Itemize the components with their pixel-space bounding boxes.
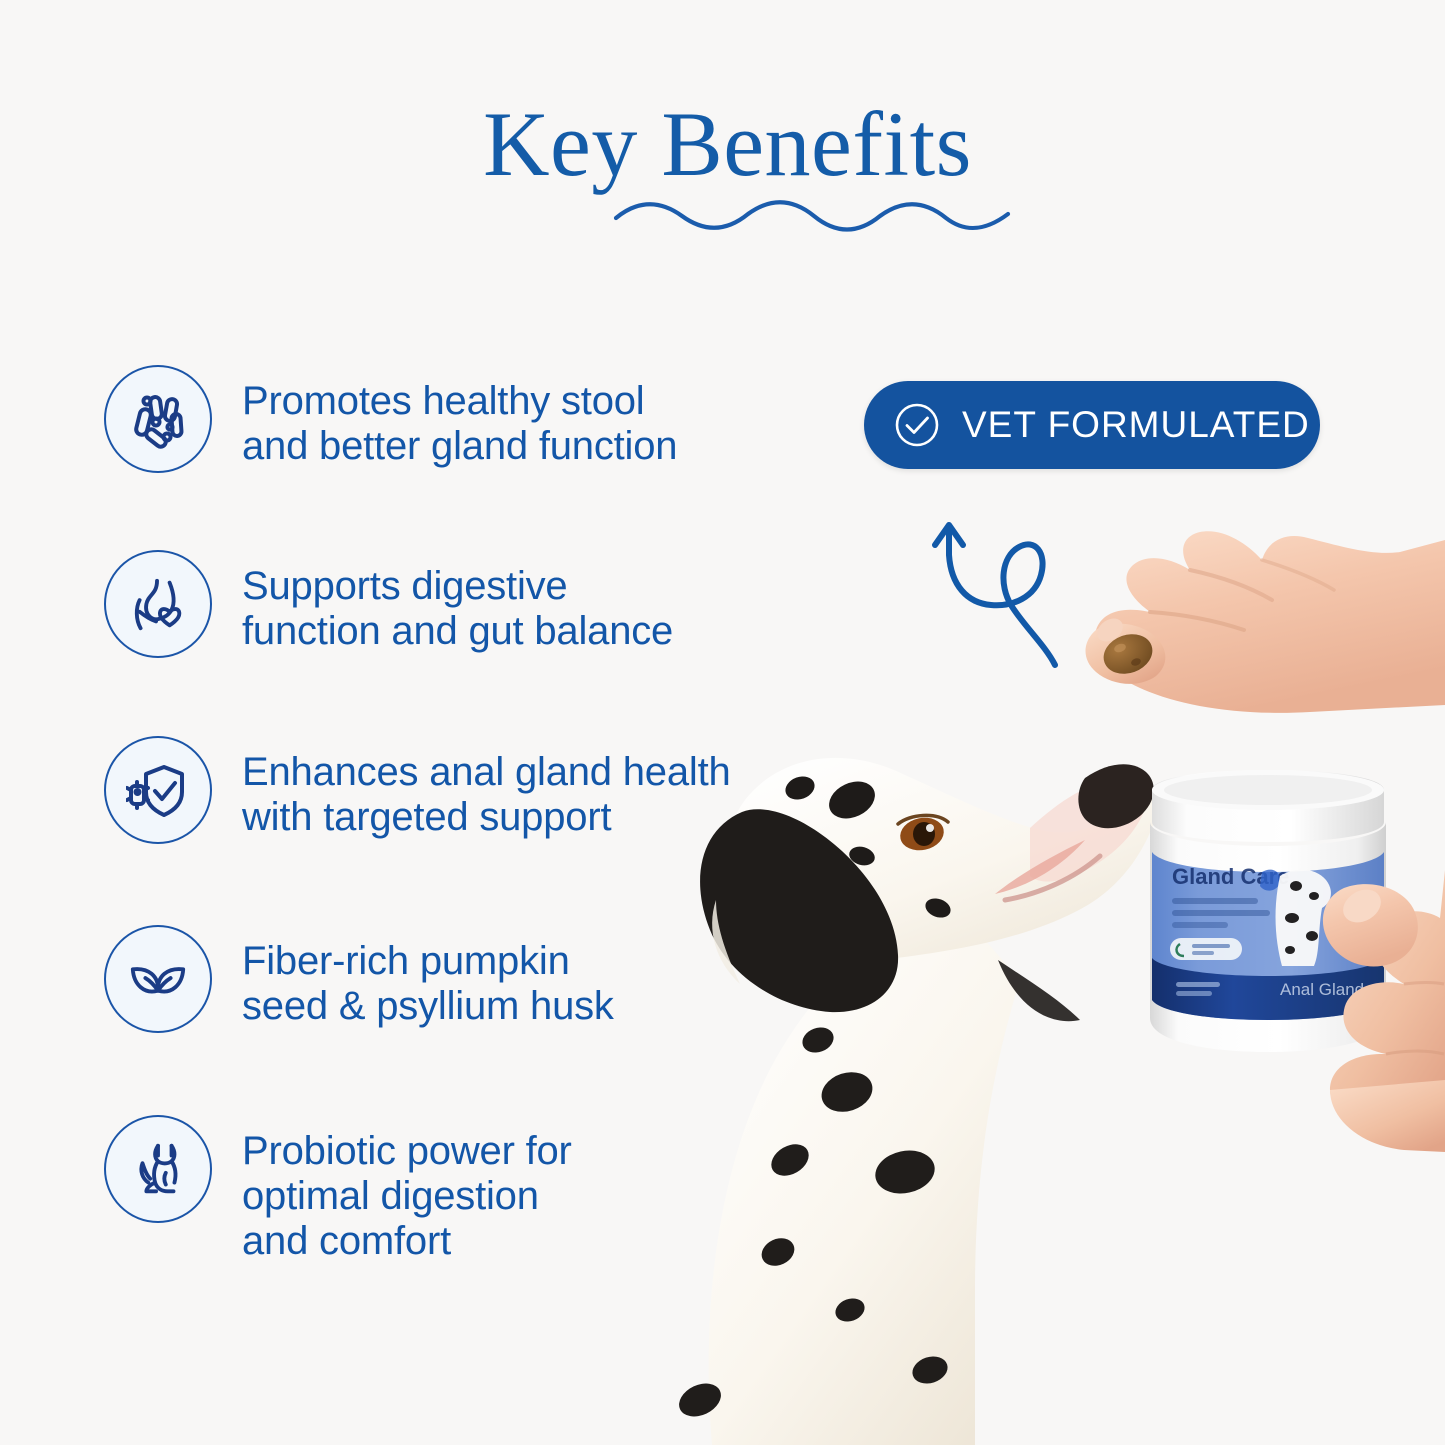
benefit-text-5: Probiotic power for optimal digestion an… bbox=[242, 1115, 572, 1263]
sitting-dog-icon bbox=[104, 1115, 212, 1223]
hand-holding-product-jar bbox=[1323, 870, 1445, 1152]
benefit-item-4: Fiber-rich pumpkin seed & psyllium husk bbox=[104, 925, 614, 1033]
curved-loop-arrow-icon bbox=[905, 505, 1085, 670]
shield-check-germ-icon bbox=[104, 736, 212, 844]
leaves-icon bbox=[104, 925, 212, 1033]
dalmatian-dog-photo bbox=[674, 758, 1161, 1445]
benefit-text-4: Fiber-rich pumpkin seed & psyllium husk bbox=[242, 925, 614, 1029]
product-jar: Gland Care Anal Glands bbox=[1150, 770, 1386, 1052]
svg-text:Gland Care: Gland Care bbox=[1172, 864, 1289, 889]
benefit-item-5: Probiotic power for optimal digestion an… bbox=[104, 1115, 572, 1263]
stomach-heart-icon bbox=[104, 550, 212, 658]
benefit-item-1: Promotes healthy stool and better gland … bbox=[104, 365, 677, 473]
vet-formulated-badge[interactable]: VET FORMULATED bbox=[864, 381, 1320, 469]
benefit-text-2: Supports digestive function and gut bala… bbox=[242, 550, 673, 654]
title-underline-squiggle bbox=[612, 192, 1012, 236]
svg-text:Anal Glands: Anal Glands bbox=[1280, 980, 1373, 999]
probiotic-bacteria-icon bbox=[104, 365, 212, 473]
circle-check-icon bbox=[894, 402, 940, 448]
benefit-text-3: Enhances anal gland health with targeted… bbox=[242, 736, 731, 840]
hand-holding-chew-treat bbox=[1086, 531, 1445, 713]
key-benefits-infographic: Key Benefits bbox=[0, 0, 1445, 1445]
benefit-item-2: Supports digestive function and gut bala… bbox=[104, 550, 673, 658]
benefit-item-3: Enhances anal gland health with targeted… bbox=[104, 736, 731, 844]
page-title: Key Benefits bbox=[0, 98, 1445, 190]
title-block: Key Benefits bbox=[0, 98, 1445, 190]
vet-formulated-label: VET FORMULATED bbox=[962, 404, 1310, 446]
benefit-text-1: Promotes healthy stool and better gland … bbox=[242, 365, 677, 469]
